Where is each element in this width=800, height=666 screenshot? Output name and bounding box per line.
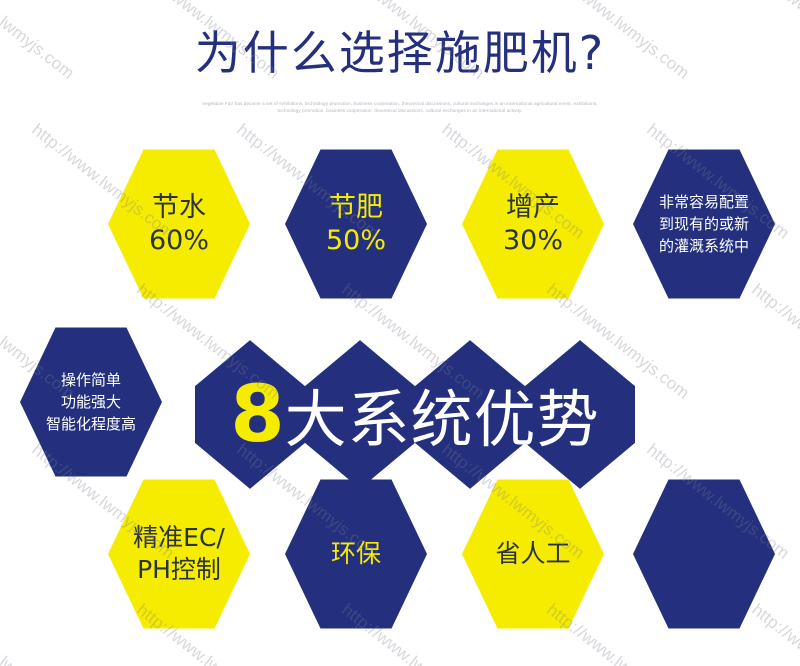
center-banner: 8 大系统优势 bbox=[195, 326, 635, 503]
hex-label-save-labor: 省人工 bbox=[495, 538, 570, 570]
hex-label-save-water: 节水 60% bbox=[149, 191, 209, 257]
hex-label-easy-integration: 非常容易配置 到现有的或新 的灌溉系统中 bbox=[659, 191, 749, 257]
hex-ec-ph-control[interactable]: 精准EC/ PH控制 bbox=[108, 478, 250, 630]
hex-eco-friendly[interactable]: 环保 bbox=[285, 478, 427, 630]
hex-blank-bottom-right[interactable] bbox=[633, 478, 775, 630]
subtitle-english: Vegetable Fair has become a set of exhib… bbox=[100, 100, 700, 114]
center-banner-number: 8 bbox=[230, 376, 282, 454]
poster-header: 为什么选择施肥机? Vegetable Fair has become a se… bbox=[0, 0, 800, 130]
infographic-poster: 为什么选择施肥机? Vegetable Fair has become a se… bbox=[0, 0, 800, 666]
hex-increase-yield[interactable]: 增产 30% bbox=[462, 148, 604, 300]
hex-easy-operation[interactable]: 操作简单 功能强大 智能化程度高 bbox=[20, 326, 162, 478]
subtitle-line-1: Vegetable Fair has become a set of exhib… bbox=[202, 101, 597, 106]
hex-label-save-fertilizer: 节肥 50% bbox=[326, 191, 386, 257]
hex-save-fertilizer[interactable]: 节肥 50% bbox=[285, 148, 427, 300]
subtitle-line-2: technology promotion, business cooperati… bbox=[100, 107, 700, 114]
hex-save-water[interactable]: 节水 60% bbox=[108, 148, 250, 300]
page-title: 为什么选择施肥机? bbox=[0, 24, 800, 82]
hexagon-grid: 8 大系统优势 节水 60% 节肥 50% 增产 30% 非常容易配置 到现有的… bbox=[0, 130, 800, 666]
center-banner-text: 8 大系统优势 bbox=[230, 376, 599, 454]
hex-save-labor[interactable]: 省人工 bbox=[462, 478, 604, 630]
hex-label-ec-ph-control: 精准EC/ PH控制 bbox=[133, 522, 225, 586]
hex-easy-integration[interactable]: 非常容易配置 到现有的或新 的灌溉系统中 bbox=[633, 148, 775, 300]
hex-label-easy-operation: 操作简单 功能强大 智能化程度高 bbox=[46, 369, 136, 435]
hex-label-increase-yield: 增产 30% bbox=[503, 191, 563, 257]
center-banner-label: 大系统优势 bbox=[285, 386, 600, 454]
hex-label-eco-friendly: 环保 bbox=[331, 538, 381, 570]
